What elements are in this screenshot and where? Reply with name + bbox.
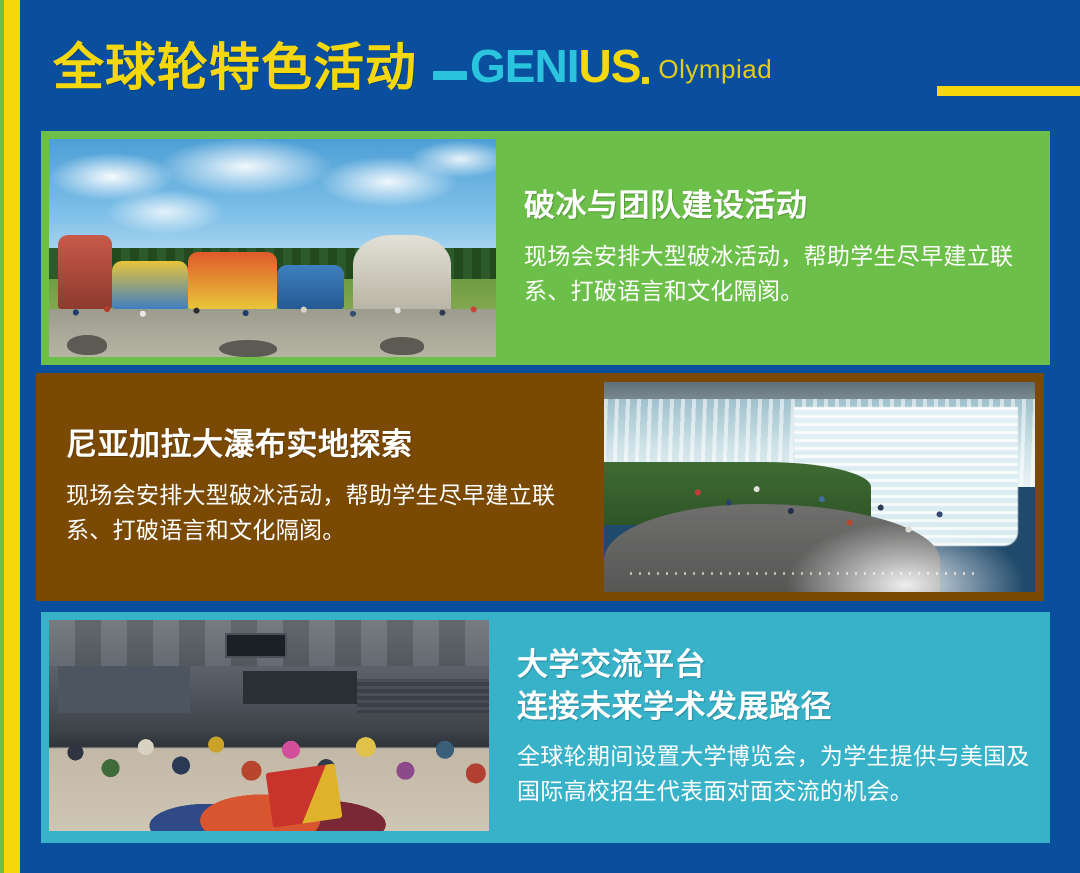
left-yellow-stripe (4, 0, 20, 873)
card-icebreaker-description: 现场会安排大型破冰活动，帮助学生尽早建立联系、打破语言和文化隔阂。 (524, 239, 1028, 310)
card-university-fair-heading-line1: 大学交流平台 (517, 645, 1036, 685)
mist-layer (785, 521, 1026, 592)
card-icebreaker-body: 破冰与团队建设活动 现场会安排大型破冰活动，帮助学生尽早建立联系、打破语言和文化… (496, 131, 1050, 365)
header-rule-icon (937, 86, 1080, 96)
students-crowd-layer (49, 700, 489, 831)
page-title: 全球轮特色活动 (53, 42, 417, 93)
card-university-fair-description: 全球轮期间设置大学博览会，为学生提供与美国及国际高校招生代表面对面交流的机会。 (517, 739, 1036, 810)
crowd-layer (49, 292, 496, 327)
card-university-fair: 大学交流平台 连接未来学术发展路径 全球轮期间设置大学博览会，为学生提供与美国及… (41, 612, 1050, 843)
card-niagara: 尼亚加拉大瀑布实地探索 现场会安排大型破冰活动，帮助学生尽早建立联系、打破语言和… (36, 373, 1044, 601)
foreground-rock-c (380, 337, 425, 354)
scene-niagara-falls (604, 382, 1035, 592)
poster-root: 全球轮特色活动 GENI US Olympiad (0, 0, 1080, 873)
card-university-fair-image (49, 620, 489, 831)
card-niagara-description: 现场会安排大型破冰活动，帮助学生尽早建立联系、打破语言和文化隔阂。 (66, 478, 594, 549)
foreground-rock-a (67, 335, 107, 355)
logo-dot-icon (642, 77, 649, 84)
logo-olympiad-text: Olympiad (658, 54, 772, 85)
header: 全球轮特色活动 GENI US Olympiad (20, 24, 1080, 110)
card-icebreaker-heading: 破冰与团队建设活动 (524, 186, 1028, 226)
card-icebreaker: 破冰与团队建设活动 现场会安排大型破冰活动，帮助学生尽早建立联系、打破语言和文化… (41, 131, 1050, 365)
card-university-fair-heading-line2: 连接未来学术发展路径 (517, 687, 1036, 727)
card-niagara-heading: 尼亚加拉大瀑布实地探索 (66, 425, 594, 465)
card-icebreaker-image (49, 139, 496, 357)
arena-screen (225, 633, 287, 658)
logo-geni-text: GENI (470, 47, 578, 86)
logo-us-text: US (578, 47, 640, 86)
card-university-fair-body: 大学交流平台 连接未来学术发展路径 全球轮期间设置大学博览会，为学生提供与美国及… (489, 612, 1050, 843)
logo-dash-icon (433, 71, 467, 80)
genius-olympiad-logo: GENI US Olympiad (433, 47, 772, 86)
scene-inflatable-field (49, 139, 496, 357)
foreground-rock-b (219, 340, 277, 357)
national-flag-icon (266, 763, 343, 827)
scene-arena-celebration (49, 620, 489, 831)
card-niagara-image (604, 382, 1035, 592)
card-niagara-body: 尼亚加拉大瀑布实地探索 现场会安排大型破冰活动，帮助学生尽早建立联系、打破语言和… (36, 373, 604, 601)
